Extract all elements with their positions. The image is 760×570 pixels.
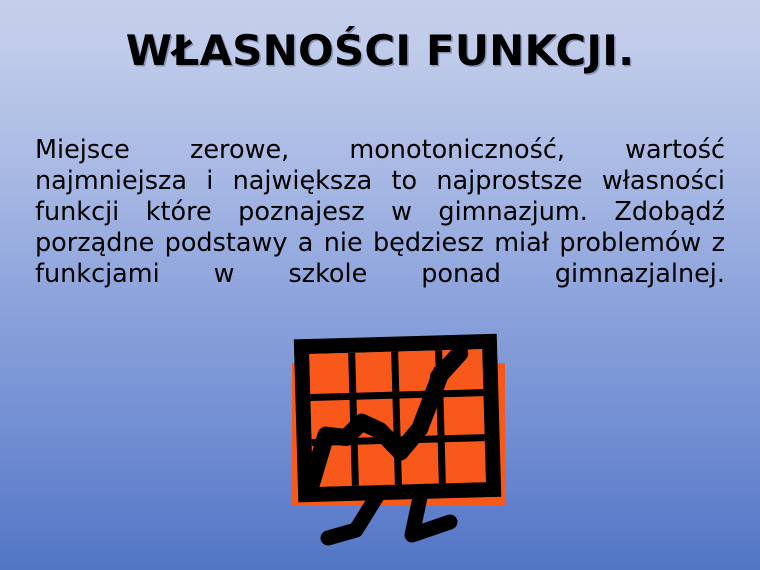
body-paragraph: Miejsce zerowe, monotoniczność, wartość … (35, 135, 725, 321)
page-title: WŁASNOŚCI FUNKCJI. (0, 26, 760, 75)
chart-clipart (270, 330, 530, 570)
body-text-block: Miejsce zerowe, monotoniczność, wartość … (35, 135, 725, 321)
chart-frame-group (301, 341, 493, 494)
slide-canvas: WŁASNOŚCI FUNKCJI. Miejsce zerowe, monot… (0, 0, 760, 570)
